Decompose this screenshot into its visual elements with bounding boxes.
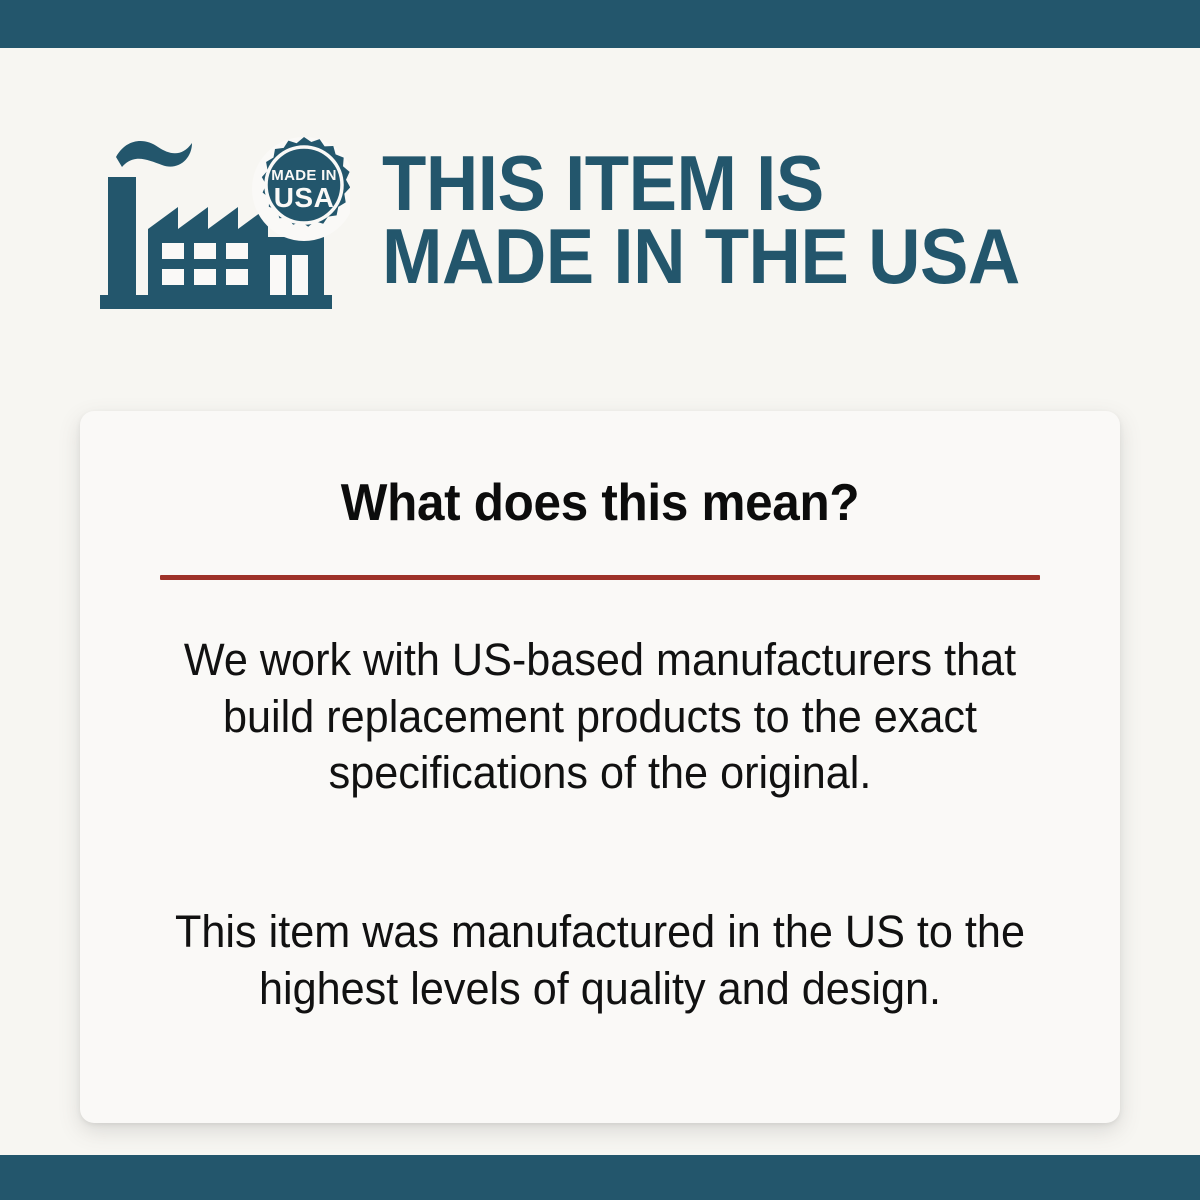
factory-annex-icon (252, 237, 324, 295)
page-title-line-1: THIS ITEM IS (382, 147, 1020, 220)
page-surface: MADE IN USA THIS ITEM IS MADE IN THE USA… (0, 48, 1200, 1155)
chimney-icon (108, 177, 136, 295)
card-heading: What does this mean? (106, 411, 1094, 533)
smoke-icon (116, 141, 192, 167)
card-paragraph-2: This item was manufactured in the US to … (168, 802, 1032, 1017)
made-in-usa-logo: MADE IN USA (100, 125, 350, 315)
page-title-line-2: MADE IN THE USA (382, 220, 1020, 293)
bottom-accent-band (0, 1155, 1200, 1200)
seal-line2: USA (274, 182, 335, 213)
card-paragraph-1: We work with US-based manufacturers that… (168, 580, 1032, 802)
factory-icon: MADE IN USA (100, 125, 350, 315)
factory-ground-icon (100, 295, 332, 309)
info-card: What does this mean? We work with US-bas… (80, 411, 1120, 1123)
top-accent-band (0, 0, 1200, 48)
header: MADE IN USA THIS ITEM IS MADE IN THE USA (0, 100, 1200, 340)
page-title: THIS ITEM IS MADE IN THE USA (382, 147, 1020, 294)
